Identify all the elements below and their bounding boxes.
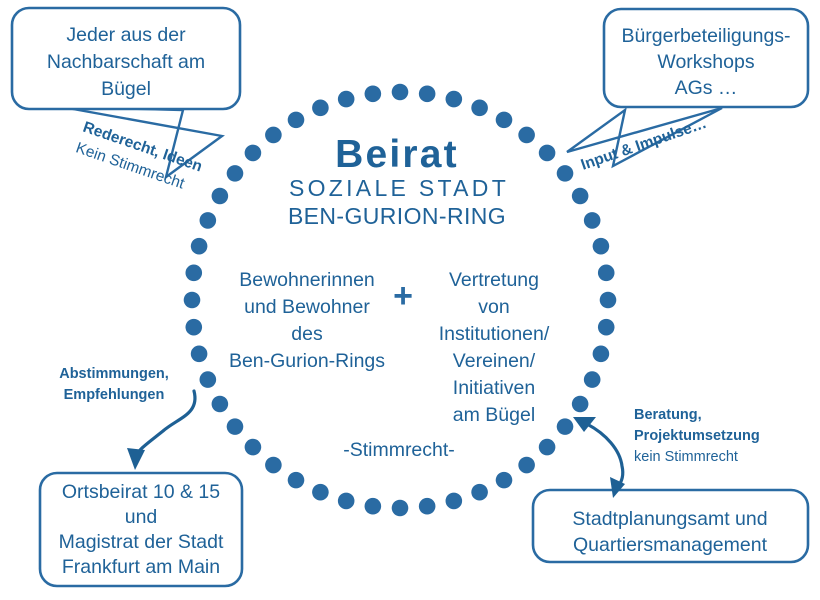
ring-dot [572,396,589,413]
ring-dot [539,145,556,162]
ring-dot [245,145,262,162]
bubble-tl-line-2: Nachbarschaft am [47,51,205,73]
ring-dot [185,319,202,336]
ring-dot [598,265,615,282]
ring-dot [572,188,589,205]
ring-dot [593,238,610,255]
ring-dot [265,457,282,474]
box-bl-line-2: und [125,506,158,528]
ring-dot [600,292,617,309]
ring-dot [419,498,436,515]
page-title: Beirat [335,133,459,176]
ring-dot [265,127,282,144]
left-group-line-1: Bewohnerinnen [239,269,375,291]
ring-dot [338,91,355,108]
plus-sign: + [393,277,413,315]
bubble-tr-line-1: Bürgerbeteiligungs- [621,25,790,47]
arrow-label-kein-stimmrecht: kein Stimmrecht [634,449,738,465]
ring-dot [518,457,535,474]
left-group-line-4: Ben-Gurion-Rings [229,350,385,372]
left-group-line-2: und Bewohner [244,296,370,318]
right-group-line-4: Vereinen/ [453,350,536,372]
ring-dot [184,292,201,309]
bubble-tr-line-3: AGs … [675,77,738,99]
ring-dot [598,319,615,336]
ring-dot [584,371,601,388]
ring-dot [496,472,513,489]
ring-dot [200,212,217,229]
ring-dot [212,188,229,205]
right-group-line-5: Initiativen [453,377,535,399]
diagram-canvas: Jeder aus der Nachbarschaft am Bügel Bür… [0,0,820,600]
box-br-line-1: Stadtplanungsamt und [572,508,767,530]
ring-dot [471,484,488,501]
box-bl-line-1: Ortsbeirat 10 & 15 [62,481,220,503]
ring-dot [191,346,208,363]
ring-dot [518,127,535,144]
arrow-head-down-left [127,448,145,470]
title-subheading-2: BEN-GURION-RING [288,203,506,229]
arrow-beratung [587,424,623,487]
ring-dot [446,91,463,108]
bubble-tl-line-1: Jeder aus der [66,24,186,46]
ring-dot [200,371,217,388]
ring-dot [496,112,513,129]
ring-dot [288,472,305,489]
ring-dot [392,84,409,101]
ring-dot [419,85,436,102]
box-bl-line-4: Frankfurt am Main [62,556,220,578]
ring-dot [185,265,202,282]
box-br-line-2: Quartiersmanagement [573,534,768,556]
ring-dot [557,418,574,435]
right-group-line-2: von [478,296,509,318]
ring-dot [288,112,305,129]
footnote-stimmrecht: -Stimmrecht- [343,439,455,461]
bubble-tr-line-2: Workshops [657,51,754,73]
ring-dot [557,165,574,182]
right-group-line-1: Vertretung [449,269,539,291]
title-subheading-1: SOZIALE STADT [289,175,509,201]
bubble-tl-line-3: Bügel [101,78,151,100]
ring-dot [312,484,329,501]
ring-dot [539,439,556,456]
arrow-label-projektumsetzung: Projektumsetzung [634,428,760,444]
arrow-head-up-right [573,417,596,432]
ring-dot [227,418,244,435]
ring-dot [365,498,382,515]
beirat-diagram: Jeder aus der Nachbarschaft am Bügel Bür… [0,0,820,600]
ring-dot [471,100,488,117]
ring-dot [365,85,382,102]
ring-dot [446,493,463,510]
ring-dot [392,500,409,517]
ring-dot [338,493,355,510]
arrow-label-beratung: Beratung, [634,407,702,423]
ring-dot [584,212,601,229]
ring-dot [191,238,208,255]
box-bl-line-3: Magistrat der Stadt [59,531,224,553]
ring-dot [593,346,610,363]
ring-dot [245,439,262,456]
ring-dot [227,165,244,182]
arrow-label-empfehlungen: Empfehlungen [64,387,165,403]
ring-dot [312,100,329,117]
arrow-label-abstimmungen: Abstimmungen, [59,366,169,382]
right-group-line-3: Institutionen/ [439,323,550,345]
right-group-line-6: am Bügel [453,404,535,426]
ring-dot [212,396,229,413]
left-group-line-3: des [291,323,323,345]
